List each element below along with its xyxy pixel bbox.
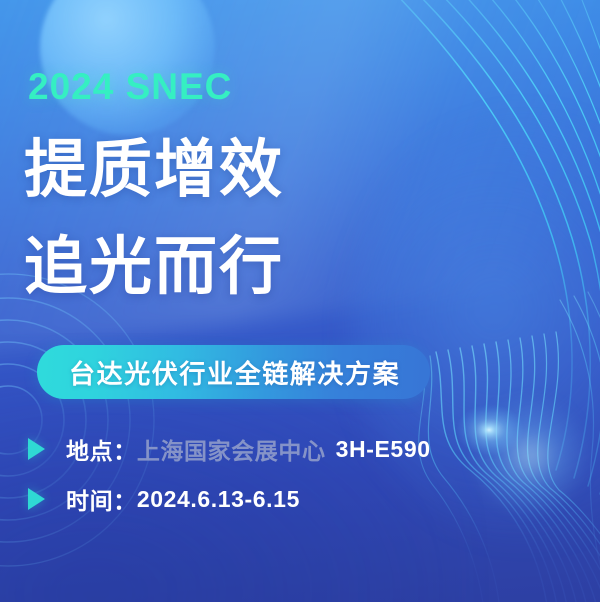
promo-banner: 2024 SNEC 提质增效 追光而行 台达光伏行业全链解决方案 地点： 上海国… xyxy=(0,0,600,602)
date-info-row: 时间： 2024.6.13-6.15 xyxy=(28,482,300,516)
venue-place: 上海国家会展中心 xyxy=(137,432,326,466)
date-value: 2024.6.13-6.15 xyxy=(137,486,300,513)
play-triangle-icon xyxy=(28,438,45,460)
headline-line-1: 提质增效 xyxy=(24,139,284,202)
banner-content: 2024 SNEC 提质增效 追光而行 台达光伏行业全链解决方案 地点： 上海国… xyxy=(0,0,600,602)
event-eyebrow: 2024 SNEC xyxy=(28,66,232,108)
venue-label: 地点： xyxy=(66,432,137,466)
date-label: 时间： xyxy=(66,482,137,516)
solution-pill-label: 台达光伏行业全链解决方案 xyxy=(69,354,400,391)
play-triangle-icon xyxy=(28,488,45,510)
headline-line-2: 追光而行 xyxy=(24,236,284,299)
venue-info-row: 地点： 上海国家会展中心 3H-E590 xyxy=(28,432,431,466)
solution-pill-badge: 台达光伏行业全链解决方案 xyxy=(37,345,430,399)
venue-booth: 3H-E590 xyxy=(336,436,431,463)
